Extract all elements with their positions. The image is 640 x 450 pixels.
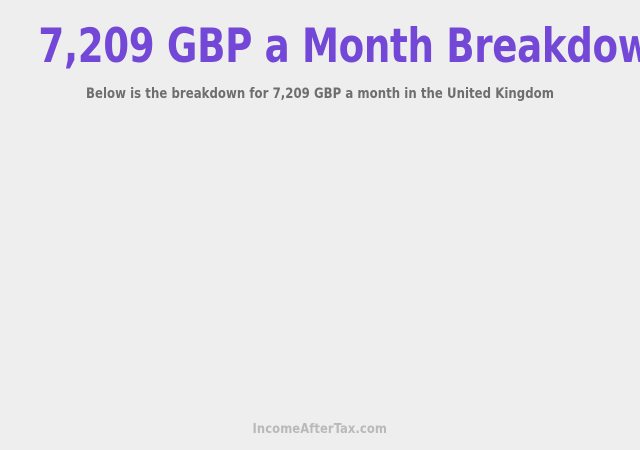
page-subtitle: Below is the breakdown for 7,209 GBP a m…	[22, 85, 617, 103]
page-title: 7,209 GBP a Month Breakdown	[38, 22, 601, 72]
page-root: 7,209 GBP a Month Breakdown Below is the…	[0, 0, 640, 450]
page-footer: IncomeAfterTax.com	[0, 418, 640, 450]
breakdown-chart-area: Chart region is blank in the screenshot …	[0, 112, 640, 410]
chart-canvas	[0, 112, 640, 410]
site-credit: IncomeAfterTax.com	[253, 418, 387, 440]
